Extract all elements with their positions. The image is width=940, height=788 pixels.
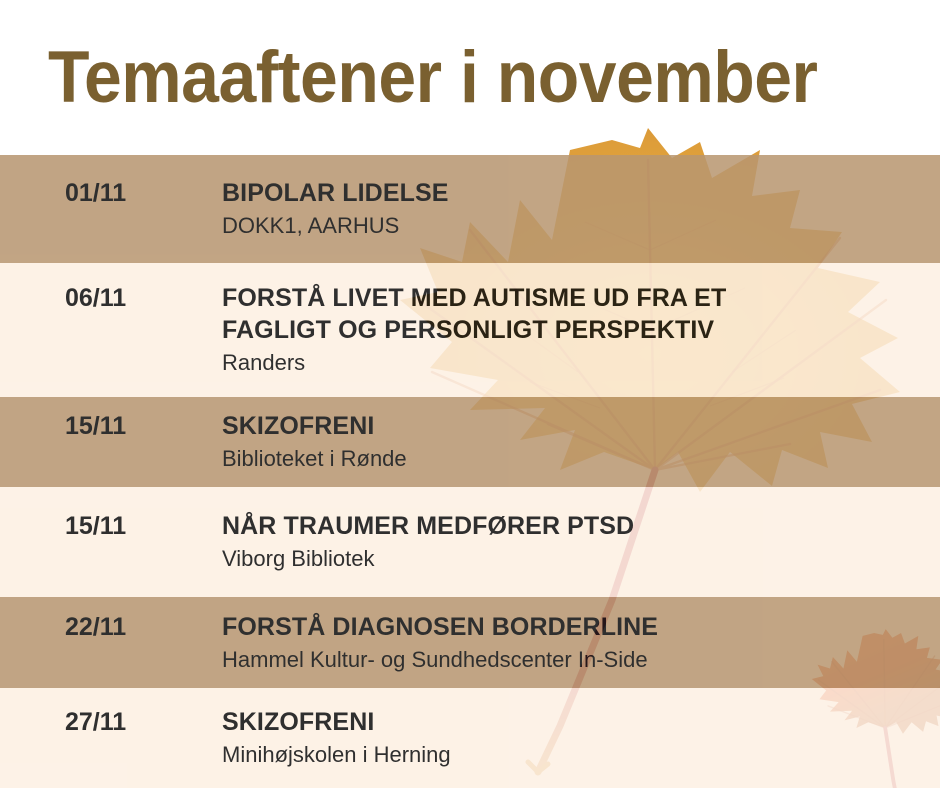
event-venue: Biblioteket i Rønde (222, 445, 940, 474)
event-venue: Randers (222, 349, 940, 378)
event-date: 06/11 (65, 282, 222, 313)
event-title: BIPOLAR LIDELSE (222, 177, 940, 209)
event-title: FORSTÅ DIAGNOSEN BORDERLINE (222, 611, 940, 643)
event-date: 15/11 (65, 510, 222, 541)
poster-header: Temaaftener i november (0, 0, 940, 155)
event-title: SKIZOFRENI (222, 410, 940, 442)
list-item[interactable]: 15/11 NÅR TRAUMER MEDFØRER PTSD Viborg B… (0, 487, 940, 597)
event-date: 15/11 (65, 410, 222, 441)
event-venue: Viborg Bibliotek (222, 545, 940, 574)
event-venue: Minihøjskolen i Herning (222, 741, 940, 770)
list-item[interactable]: 15/11 SKIZOFRENI Biblioteket i Rønde (0, 397, 940, 487)
event-venue: Hammel Kultur- og Sundhedscenter In-Side (222, 646, 940, 675)
list-item[interactable]: 06/11 FORSTÅ LIVET MED AUTISME UD FRA ET… (0, 263, 940, 397)
poster-canvas: Temaaftener i november (0, 0, 940, 788)
list-item[interactable]: 22/11 FORSTÅ DIAGNOSEN BORDERLINE Hammel… (0, 597, 940, 688)
event-date: 01/11 (65, 177, 222, 208)
event-title: NÅR TRAUMER MEDFØRER PTSD (222, 510, 940, 542)
event-venue: DOKK1, AARHUS (222, 212, 940, 241)
event-title: FORSTÅ LIVET MED AUTISME UD FRA ET (222, 282, 940, 314)
event-list: 01/11 BIPOLAR LIDELSE DOKK1, AARHUS 06/1… (0, 155, 940, 788)
event-title-line2: FAGLIGT OG PERSONLIGT PERSPEKTIV (222, 314, 940, 346)
event-date: 27/11 (65, 706, 222, 737)
event-date: 22/11 (65, 611, 222, 642)
page-title: Temaaftener i november (48, 41, 818, 114)
list-item[interactable]: 27/11 SKIZOFRENI Minihøjskolen i Herning (0, 688, 940, 788)
list-item[interactable]: 01/11 BIPOLAR LIDELSE DOKK1, AARHUS (0, 155, 940, 263)
event-title: SKIZOFRENI (222, 706, 940, 738)
